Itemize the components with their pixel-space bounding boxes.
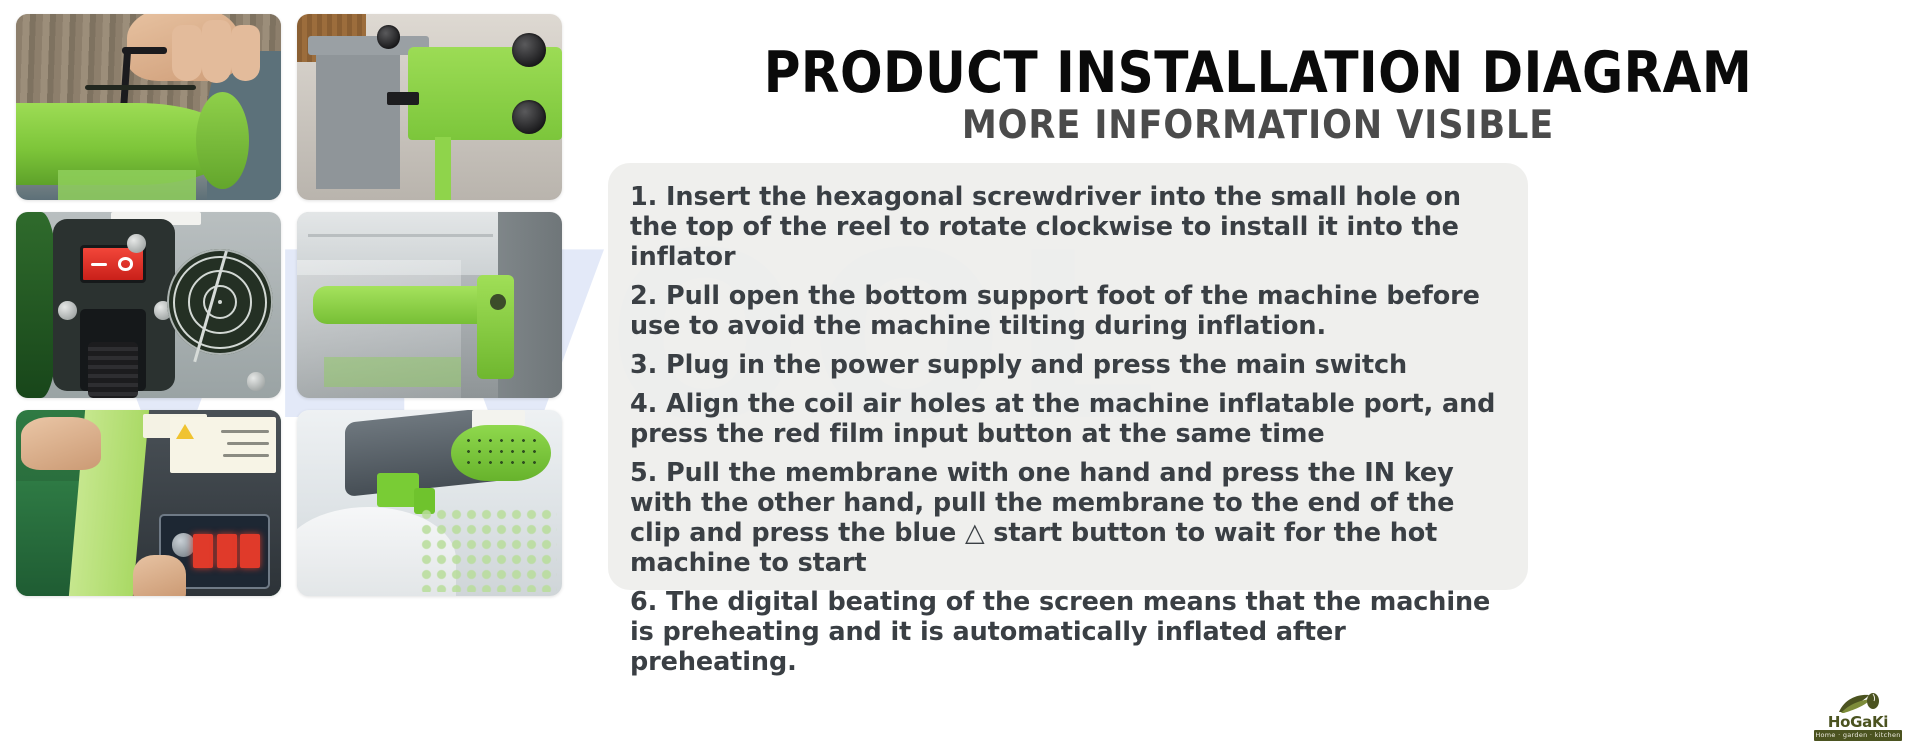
label-text-line [223, 454, 270, 457]
photo-air-cushion-output [297, 410, 562, 596]
infographic-page: VEVOOL [0, 0, 1920, 750]
page-subtitle: MORE INFORMATION VISIBLE [673, 103, 1843, 148]
led-digits [193, 534, 260, 568]
support-foot-arm [313, 286, 499, 323]
bracket-hole [490, 294, 506, 310]
brand-name: HoGaKi [1810, 713, 1906, 731]
instructions-panel: 1. Insert the hexagonal screwdriver into… [608, 163, 1528, 590]
reel-cap [196, 92, 249, 189]
reel-slot [85, 85, 196, 90]
bolt-icon [512, 33, 546, 67]
warning-triangle-icon [176, 424, 194, 439]
power-plug [88, 342, 138, 398]
instruction-step: 4. Align the coil air holes at the machi… [630, 389, 1502, 449]
bolt-icon [512, 100, 546, 134]
switch-off-mark [118, 257, 134, 271]
screw-icon [247, 372, 266, 391]
content-column: PRODUCT INSTALLATION DIAGRAM MORE INFORM… [608, 0, 1908, 750]
warning-label [170, 417, 276, 473]
finger-pressing-button [133, 555, 186, 596]
support-foot-bracket [477, 275, 514, 379]
film-sheet [58, 170, 196, 200]
photo-green-bracket-bolts [297, 14, 562, 200]
hand [21, 417, 101, 469]
photo-hex-key-into-reel [16, 14, 281, 200]
hex-key-handle [122, 47, 167, 54]
label-text-line [221, 430, 270, 433]
photo-grid [16, 14, 574, 596]
finger [202, 20, 231, 83]
instruction-step: 5. Pull the membrane with one hand and p… [630, 458, 1502, 578]
control-knob [172, 533, 196, 557]
screw-icon [58, 301, 77, 320]
slot-gap [387, 92, 419, 105]
photo-power-switch-and-fan [16, 212, 281, 398]
instruction-step: 3. Plug in the power supply and press th… [630, 350, 1502, 380]
finger [172, 25, 201, 81]
screw-icon [127, 234, 146, 253]
air-holes [463, 435, 542, 471]
film-sheet [324, 357, 462, 387]
air-cushion-bubbles [419, 507, 557, 593]
instruction-step: 6. The digital beating of the screen mea… [630, 587, 1502, 677]
leaf-pear-logo-icon [1835, 692, 1881, 714]
photo-control-panel-display [16, 410, 281, 596]
brand-tagline: Home · garden · kitchen [1814, 730, 1902, 741]
instruction-step: 1. Insert the hexagonal screwdriver into… [630, 182, 1502, 272]
switch-on-mark [91, 263, 107, 266]
bolt-icon [377, 25, 401, 49]
bag-fold [308, 234, 494, 237]
label-text-line [227, 442, 269, 445]
green-stem [435, 137, 451, 200]
page-title: PRODUCT INSTALLATION DIAGRAM [686, 40, 1830, 106]
green-housing [16, 212, 58, 398]
green-clip [377, 473, 419, 506]
finger [231, 25, 260, 81]
brand-logo: HoGaKi Home · garden · kitchen [1810, 692, 1906, 744]
green-nozzle-pad [451, 425, 552, 481]
instruction-step: 2. Pull open the bottom support foot of … [630, 281, 1502, 341]
photo-support-foot [297, 212, 562, 398]
metal-post [316, 55, 401, 189]
